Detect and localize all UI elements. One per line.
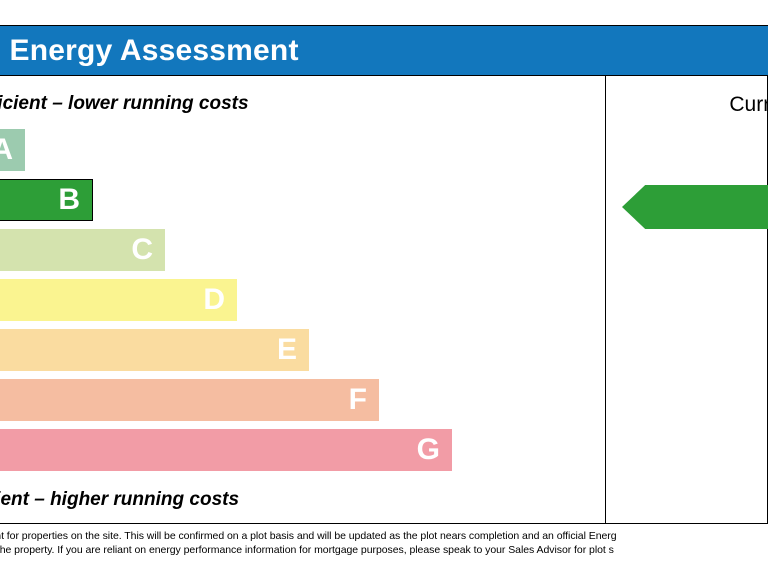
band-letter: B (58, 185, 92, 215)
page-title: icted Energy Assessment (0, 34, 299, 68)
current-rating-arrow-wrap: B (622, 185, 768, 229)
band-row: A (0, 129, 605, 179)
energy-band-g[interactable]: G (0, 429, 452, 471)
epc-chart-frame: ergy efficient – lower running costs A B… (0, 76, 768, 524)
footer-disclaimer: Energy Assessment for properties on the … (0, 526, 768, 576)
band-letter: E (277, 335, 309, 365)
band-letter: C (131, 235, 165, 265)
energy-band-d[interactable]: D (0, 279, 237, 321)
energy-band-f[interactable]: F (0, 379, 379, 421)
energy-band-e[interactable]: E (0, 329, 309, 371)
energy-band-b[interactable]: B (0, 179, 93, 221)
band-row: C (0, 229, 605, 279)
band-letter: G (417, 435, 452, 465)
band-letter: A (0, 135, 25, 165)
current-column-heading: Curren (606, 93, 768, 117)
caption-not-energy-efficient: gy efficient – higher running costs (0, 489, 239, 511)
band-letter: D (203, 285, 237, 315)
band-row: B (0, 179, 605, 229)
band-letter: F (349, 385, 379, 415)
current-rating-panel: Curren B (606, 76, 768, 523)
band-row: G (0, 429, 605, 479)
energy-band-a[interactable]: A (0, 129, 25, 171)
page-title-bar: icted Energy Assessment (0, 25, 768, 76)
footer-line-1: Energy Assessment for properties on the … (0, 530, 617, 542)
energy-band-c[interactable]: C (0, 229, 165, 271)
energy-band-list: A B C D E (0, 129, 605, 479)
energy-scale-panel: ergy efficient – lower running costs A B… (0, 76, 605, 523)
band-row: E (0, 329, 605, 379)
band-row: D (0, 279, 605, 329)
caption-energy-efficient: ergy efficient – lower running costs (0, 93, 249, 115)
top-margin (0, 0, 768, 25)
band-row: F (0, 379, 605, 429)
current-rating-arrow: B (622, 185, 768, 229)
footer-line-2: ated/displayed for the property. If you … (0, 544, 614, 556)
